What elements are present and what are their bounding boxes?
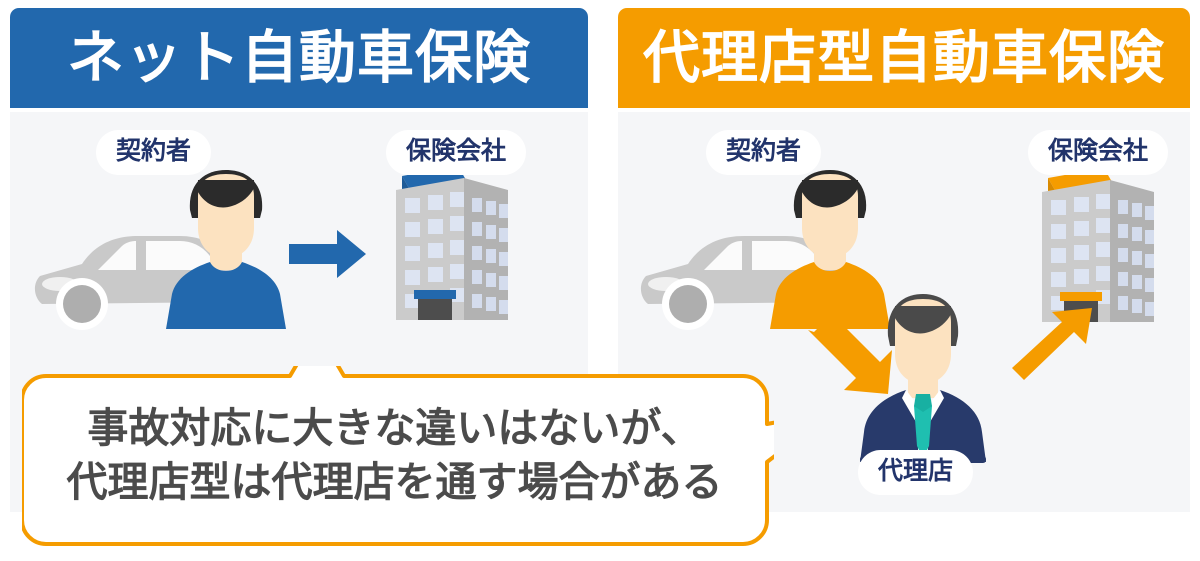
callout-bubble: 事故対応に大きな違いはないが、 代理店型は代理店を通す場合がある	[22, 366, 774, 550]
panel-net-header: ネット自動車保険	[10, 8, 588, 108]
arrow-agency-to-insurer-icon	[1008, 308, 1100, 392]
label-insurer-agency: 保険会社	[1028, 130, 1168, 175]
callout-bubble-shape	[22, 366, 774, 550]
label-insurer-net: 保険会社	[386, 130, 526, 175]
label-policyholder-net: 契約者	[96, 130, 211, 175]
arrow-customer-to-insurer-icon	[289, 228, 367, 280]
panel-agency-header: 代理店型自動車保険	[618, 8, 1190, 108]
policyholder-figure-net	[162, 166, 290, 331]
label-policyholder-agency: 契約者	[706, 130, 821, 175]
infographic-canvas: ネット自動車保険 契約者 保険会社	[0, 0, 1200, 561]
insurance-building-net-icon	[380, 160, 530, 332]
label-agency: 代理店	[858, 450, 973, 495]
agency-agent-figure	[840, 290, 1006, 470]
